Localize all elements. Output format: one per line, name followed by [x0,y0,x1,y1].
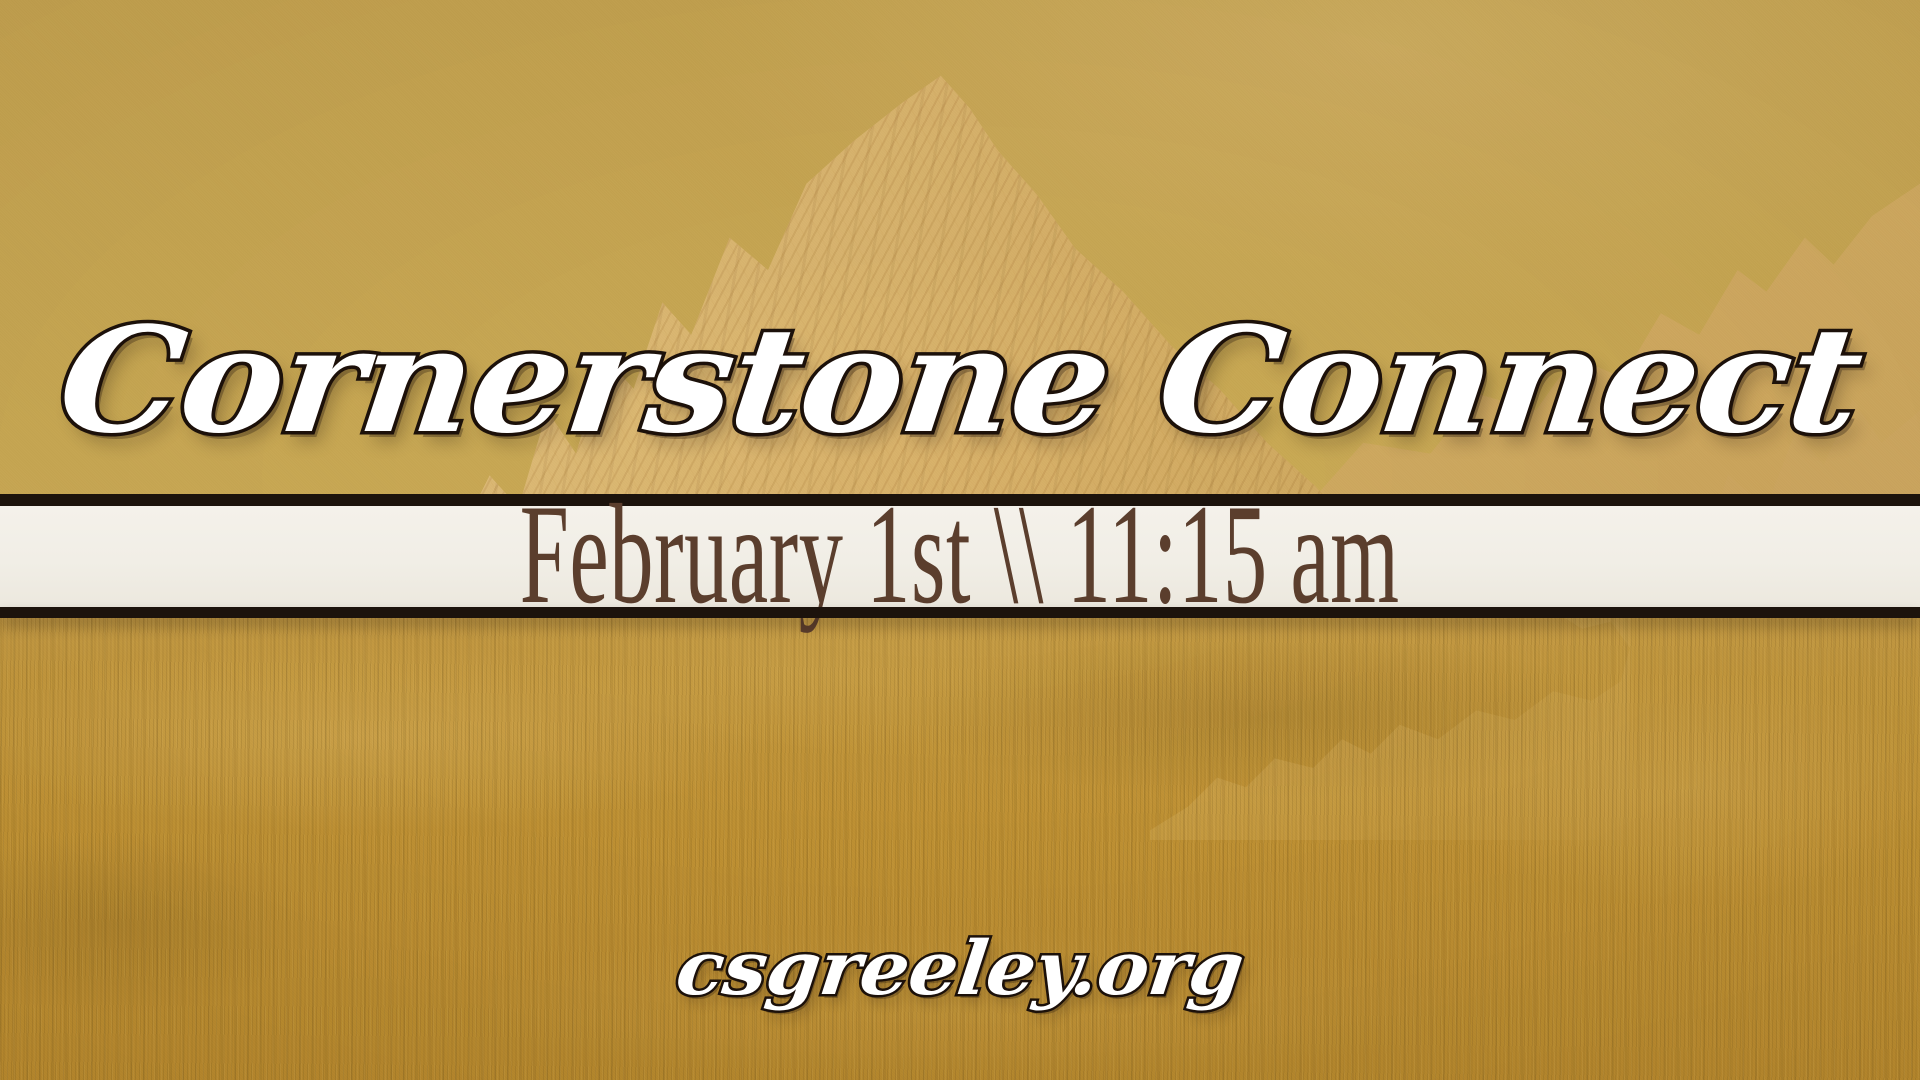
event-detail-band: February 1st \\ 11:15 am [0,506,1920,607]
announcement-slide: Cornerstone Connect February 1st \\ 11:1… [0,0,1920,1080]
band-rule-bottom [0,607,1920,618]
event-datetime: February 1st \\ 11:15 am [520,483,1400,626]
